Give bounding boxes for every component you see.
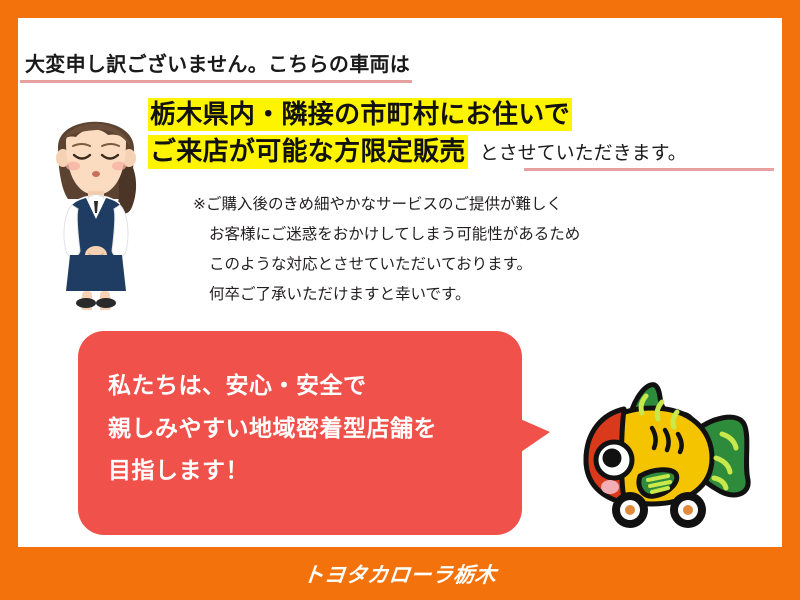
bubble-line-3: 目指します！ xyxy=(108,449,437,492)
headline-suffix-underline xyxy=(524,168,774,171)
bowing-woman-illustration xyxy=(36,95,156,310)
frame-left-border xyxy=(0,0,18,600)
headline-line-1: 栃木県内・隣接の市町村にお住いで xyxy=(148,98,572,131)
headline-row-1: 栃木県内・隣接の市町村にお住いで xyxy=(148,98,768,131)
headline-block: 栃木県内・隣接の市町村にお住いで ご来店が可能な方限定販売 とさせていただきます… xyxy=(148,98,768,173)
note-line-4: 何卒ご了承いただけますと幸いです。 xyxy=(193,280,580,310)
promo-banner: 大変申し訳ございません。こちらの車両は xyxy=(0,0,800,600)
frame-top-border xyxy=(0,0,800,18)
speech-bubble-text: 私たちは、安心・安全で 親しみやすい地域密着型店舗を 目指します！ xyxy=(108,364,437,492)
note-paragraph: ※ご購入後のきめ細やかなサービスのご提供が難しく お客様にご迷惑をおかけしてしま… xyxy=(193,190,580,310)
headline-row-2: ご来店が可能な方限定販売 とさせていただきます。 xyxy=(148,135,768,168)
speech-bubble-tail xyxy=(518,418,550,454)
note-line-2: お客様にご迷惑をおかけしてしまう可能性があるため xyxy=(193,220,580,250)
headline-line-2: ご来店が可能な方限定販売 xyxy=(148,135,468,168)
bubble-line-2: 親しみやすい地域密着型店舗を xyxy=(108,407,437,450)
headline-suffix: とさせていただきます。 xyxy=(480,138,687,165)
dealer-logo-text: トヨタカローラ栃木 xyxy=(302,559,499,589)
header-underline xyxy=(20,80,412,83)
note-line-1: ※ご購入後のきめ細やかなサービスのご提供が難しく xyxy=(193,190,580,220)
fish-toy-mascot-icon xyxy=(572,372,762,534)
footer-band: トヨタカローラ栃木 xyxy=(0,547,800,600)
bubble-line-1: 私たちは、安心・安全で xyxy=(108,364,437,407)
frame-right-border xyxy=(782,0,800,600)
page-title: 大変申し訳ございません。こちらの車両は xyxy=(25,48,410,77)
note-line-3: このような対応とさせていただいております。 xyxy=(193,250,580,280)
